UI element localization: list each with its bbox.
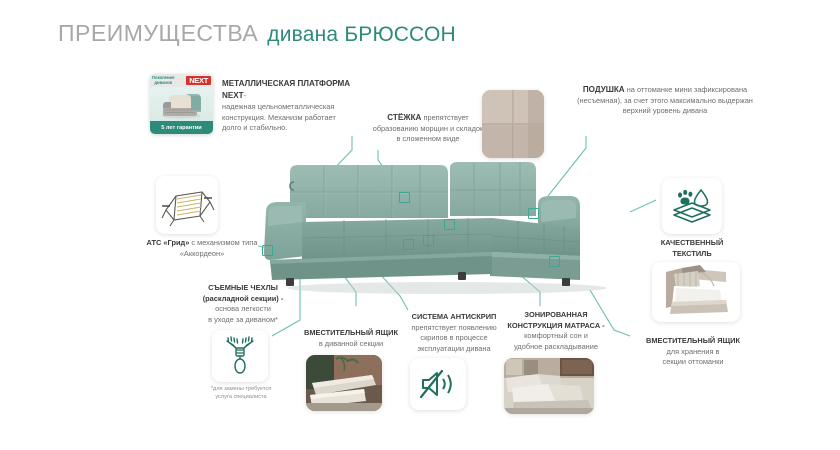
zipper-icon — [212, 330, 268, 382]
callout-zoned-mattress: ЗОНИРОВАННАЯ КОНСТРУКЦИЯ МАТРАСА - комфо… — [492, 310, 620, 352]
removable-covers-footnote: *для замены требуется услуга специалиста — [180, 386, 302, 401]
title-main: ПРЕИМУЩЕСТВА — [58, 20, 258, 47]
infographic-canvas: ПРЕИМУЩЕСТВА дивана БРЮССОН — [0, 0, 840, 450]
badge-warranty: 5 лет гарантии — [150, 121, 213, 134]
sofa-marker-squeak — [444, 219, 455, 230]
callout-ottoman-storage-body2: секции оттоманки — [663, 357, 724, 366]
callout-platform-next: МЕТАЛЛИЧЕСКАЯ ПЛАТФОРМА NEXT- надежная ц… — [222, 78, 354, 134]
callout-platform-next-heading: МЕТАЛЛИЧЕСКАЯ ПЛАТФОРМА NEXT — [222, 79, 350, 100]
callout-removable-covers-body2: в уходе за диваном* — [208, 315, 278, 324]
callout-atc-grid-heading: АТС «Грид» — [147, 238, 190, 247]
callout-atc-grid: АТС «Грид» с механизмом типа «Аккордеон» — [142, 238, 262, 259]
metal-frame-photo — [156, 176, 218, 234]
callout-removable-covers-body1: основа легкости — [215, 304, 271, 313]
sofa-marker-ottoman — [549, 256, 560, 267]
callout-quality-textile-line1: КАЧЕСТВЕННЫЙ — [661, 238, 724, 247]
callout-ottoman-storage-heading: ВМЕСТИТЕЛЬНЫЙ ЯЩИК — [646, 336, 740, 345]
badge-armchair-photo — [150, 87, 213, 121]
sofa-marker-covers — [403, 239, 414, 250]
callout-sofa-storage-body: в диванной секции — [319, 339, 383, 348]
callout-zoned-mattress-body1: комфортный сон и — [524, 331, 588, 340]
muted-speaker-icon — [410, 358, 466, 410]
callout-zoned-mattress-line1: ЗОНИРОВАННАЯ — [524, 310, 587, 319]
footnote-line1: *для замены требуется — [211, 386, 271, 392]
ottoman-storage-photo — [652, 262, 740, 322]
callout-atc-grid-body: с механизмом типа «Аккордеон» — [180, 238, 258, 258]
callout-quality-textile-line2: ТЕКСТИЛЬ — [672, 249, 711, 258]
next-generation-badge: Поколение диванов NEXT 5 лет гарантии — [150, 74, 213, 134]
callout-anti-squeak-body1: препятствует появлению — [411, 323, 496, 332]
sofa-marker-storage — [423, 235, 434, 246]
callout-platform-next-body: надежная цельнометаллическая конструкция… — [222, 102, 354, 134]
callout-zoned-mattress-line2: КОНСТРУКЦИЯ МАТРАСА - — [507, 321, 604, 330]
badge-generation-line2: диванов — [152, 81, 174, 85]
callout-quality-textile: КАЧЕСТВЕННЫЙ ТЕКСТИЛЬ — [650, 238, 734, 259]
callout-anti-squeak-body3: эксплуатации дивана — [417, 344, 490, 353]
callout-sofa-storage-heading: ВМЕСТИТЕЛЬНЫЙ ЯЩИК — [304, 328, 398, 337]
sofa-marker-pillow — [528, 208, 539, 219]
callout-pillow-heading: ПОДУШКА — [583, 85, 625, 94]
badge-top-bar: Поколение диванов NEXT — [150, 74, 213, 87]
callout-sofa-storage: ВМЕСТИТЕЛЬНЫЙ ЯЩИК в диванной секции — [296, 328, 406, 349]
open-storage-box-photo — [306, 355, 382, 411]
callout-anti-squeak-body2: скрипов в процессе — [420, 333, 487, 342]
paw-waterdrop-layers-icon — [662, 178, 722, 234]
footnote-line2: услуга специалиста — [215, 394, 266, 400]
callout-stitching: СТЁЖКА препятствует образованию морщин и… — [372, 112, 484, 145]
callout-ottoman-storage-body1: для хранения в — [667, 347, 720, 356]
quilted-fabric-photo — [482, 90, 544, 158]
unfolded-sofa-bed-photo — [504, 358, 594, 414]
sofa-marker-platform — [399, 192, 410, 203]
callout-ottoman-storage: ВМЕСТИТЕЛЬНЫЙ ЯЩИК для хранения в секции… — [630, 336, 756, 368]
callout-anti-squeak-heading: СИСТЕМА АНТИСКРИП — [412, 312, 497, 321]
badge-warranty-text: 5 лет гарантии — [161, 125, 201, 131]
callout-pillow: ПОДУШКА на оттоманке мини зафиксирована … — [574, 84, 756, 117]
sofa-marker-textile — [262, 245, 273, 256]
callout-zoned-mattress-body2: удобное раскладывание — [514, 342, 598, 351]
product-sofa-image — [262, 160, 622, 295]
title-sub: дивана БРЮССОН — [267, 23, 456, 47]
callout-stitching-heading: СТЁЖКА — [387, 113, 421, 122]
callout-platform-next-dash: - — [244, 91, 246, 100]
page-title: ПРЕИМУЩЕСТВА дивана БРЮССОН — [58, 20, 456, 47]
badge-next-label: NEXT — [186, 76, 211, 85]
